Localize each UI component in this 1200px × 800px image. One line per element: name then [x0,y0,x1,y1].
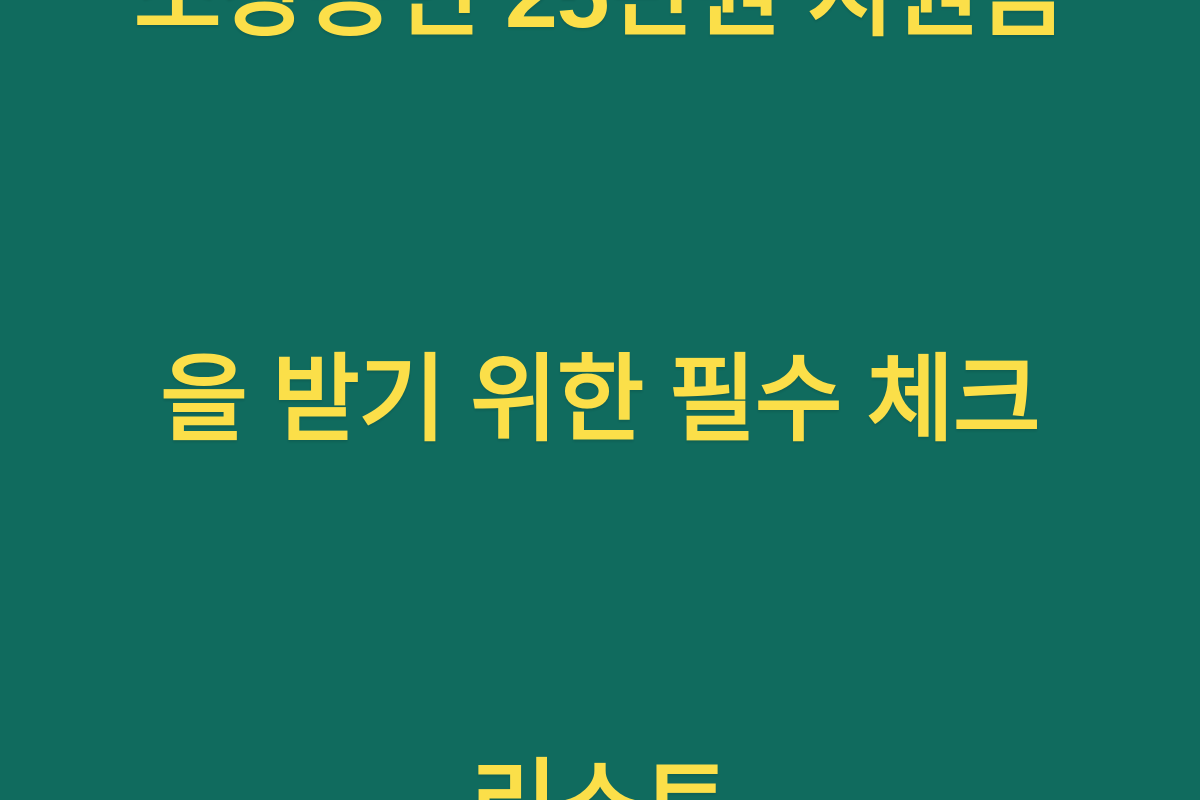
thumbnail-card: 소상공인 25만원 지원금 을 받기 위한 필수 체크 리스트 [0,0,1200,800]
page-title: 소상공인 25만원 지원금 을 받기 위한 필수 체크 리스트 [0,0,1200,800]
headline-line-2: 을 받기 위한 필수 체크 [70,333,1130,468]
headline-line-3: 리스트 [70,738,1130,800]
headline-line-1: 소상공인 25만원 지원금 [70,0,1130,63]
